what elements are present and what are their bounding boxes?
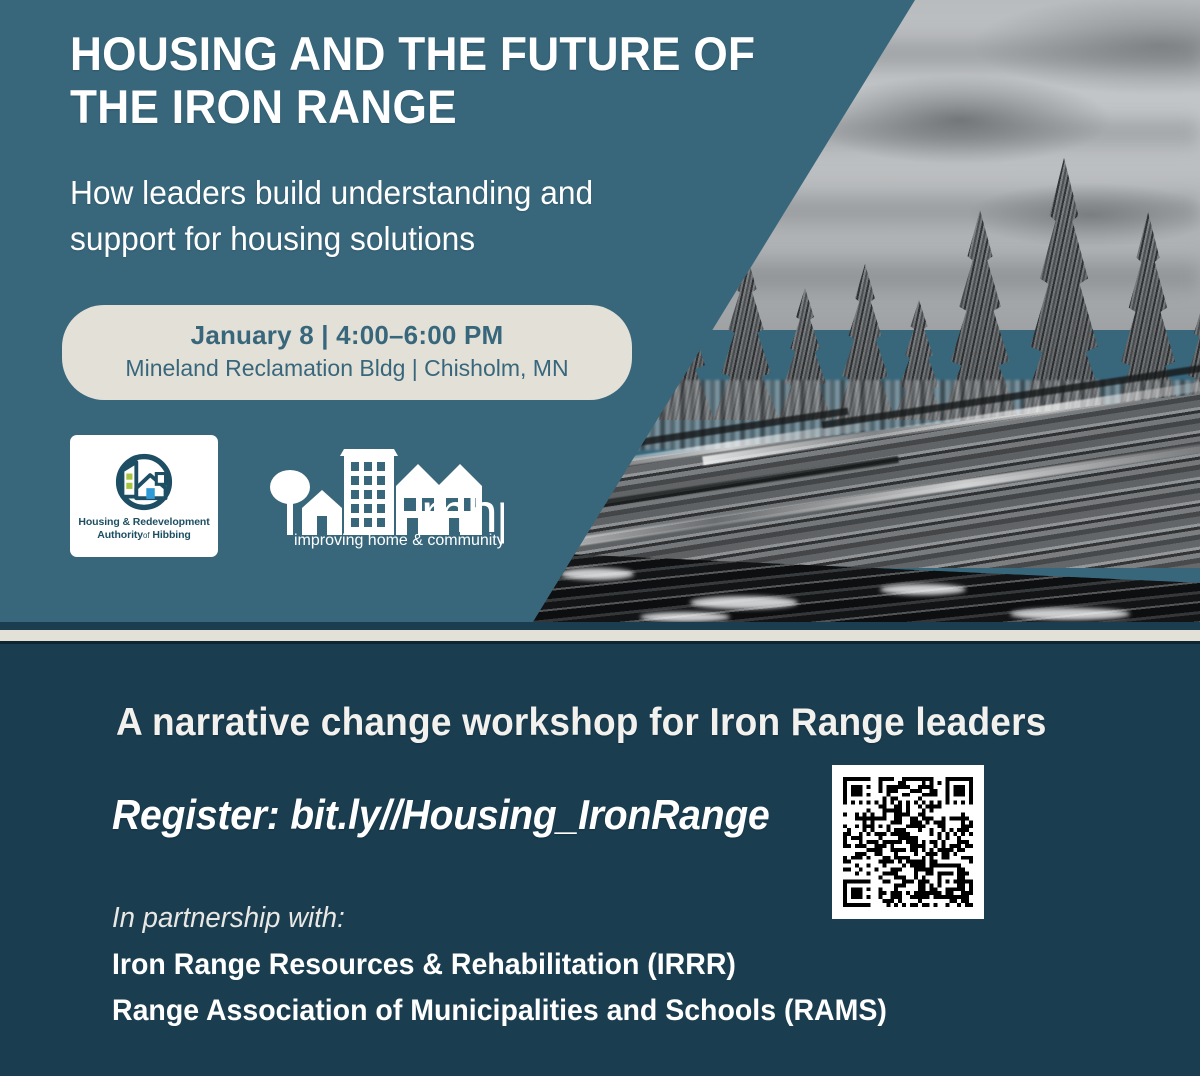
- hra-house-circle-icon: [105, 452, 183, 512]
- svg-text:improving home & community: improving home & community: [294, 532, 504, 549]
- mhp-homes-skyline-icon: mhp improving home & community: [266, 442, 504, 550]
- event-datetime: January 8 | 4:00–6:00 PM: [82, 319, 612, 352]
- hra-logo-line-2b: of: [143, 531, 149, 540]
- hra-logo-line-1: Housing & Redevelopment: [78, 516, 209, 528]
- event-flyer: HOUSING AND THE FUTURE OF THE IRON RANGE…: [0, 0, 1200, 1076]
- event-location: Mineland Reclamation Bldg | Chisholm, MN: [82, 354, 612, 384]
- mhp-logo: mhp improving home & community: [266, 442, 504, 550]
- hra-logo-wordmark: Housing & Redevelopment Authorityof Hibb…: [78, 516, 209, 542]
- event-details-badge: January 8 | 4:00–6:00 PM Mineland Reclam…: [62, 305, 632, 400]
- page-title: HOUSING AND THE FUTURE OF THE IRON RANGE: [70, 28, 784, 133]
- divider-cream-band: [0, 630, 1200, 641]
- hra-logo-line-2c: Hibbing: [152, 529, 190, 541]
- qr-code-graphic: [843, 776, 973, 908]
- partners-label: In partnership with:: [112, 902, 345, 935]
- divider-navy-band: [0, 622, 1200, 630]
- workshop-tagline: A narrative change workshop for Iron Ran…: [116, 701, 1047, 745]
- hero-section: HOUSING AND THE FUTURE OF THE IRON RANGE…: [0, 0, 1200, 622]
- footer-section: A narrative change workshop for Iron Ran…: [0, 644, 1200, 1076]
- registration-qr-code[interactable]: [832, 765, 984, 919]
- page-subtitle: How leaders build understanding and supp…: [70, 170, 684, 261]
- hra-hibbing-logo: Housing & Redevelopment Authorityof Hibb…: [70, 435, 218, 557]
- partner-rams: Range Association of Municipalities and …: [112, 994, 887, 1028]
- hra-logo-line-2a: Authority: [97, 529, 143, 541]
- registration-link[interactable]: Register: bit.ly//Housing_IronRange: [112, 791, 770, 839]
- partner-irrr: Iron Range Resources & Rehabilitation (I…: [112, 948, 736, 982]
- logo-row: Housing & Redevelopment Authorityof Hibb…: [70, 435, 504, 557]
